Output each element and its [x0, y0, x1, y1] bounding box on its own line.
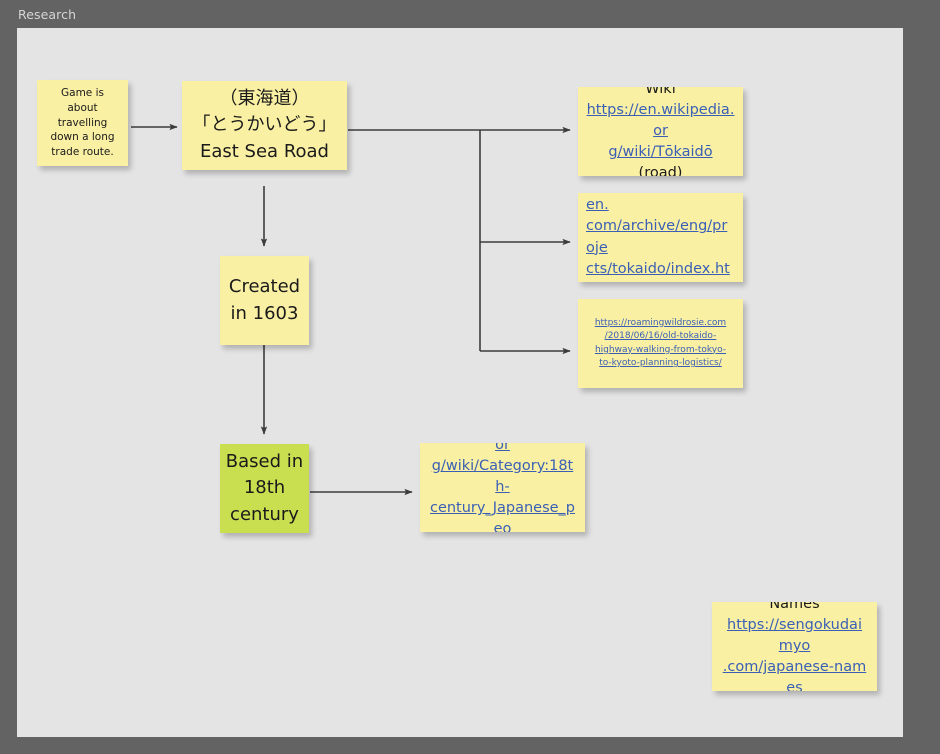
window-title: Research — [18, 7, 76, 22]
note-based-line-3: century — [220, 502, 309, 528]
note-wiki-link-tail[interactable]: g/wiki/Tōkaidō — [608, 144, 712, 160]
note-wiki-heading: Wiki — [586, 87, 735, 100]
note-category-line-2[interactable]: g/wiki/Category:18th- — [428, 456, 577, 498]
note-wiki-link-line-1[interactable]: https://en.wikipedia.or — [586, 100, 735, 142]
note-premise-line-2: travelling — [45, 116, 120, 131]
note-names-link[interactable]: Names https://sengokudaimyo .com/japanes… — [712, 602, 877, 691]
note-wikipedia-category-link[interactable]: https://en.wikipedia.or g/wiki/Category:… — [420, 443, 585, 532]
note-tokaido-line-english: East Sea Road — [182, 139, 347, 165]
note-premise-line-3: down a long — [45, 130, 120, 145]
note-names-heading: Names — [720, 602, 869, 615]
note-names-line-2[interactable]: .com/japanese-names — [720, 657, 869, 691]
note-premise-line-4: trade route. — [45, 145, 120, 160]
note-created-line-2: in 1603 — [220, 301, 309, 327]
note-rosie-line-2[interactable]: /2018/06/16/old-tokaido- — [586, 330, 735, 344]
note-rosie-line-1[interactable]: https://roamingwildrosie.com — [586, 317, 735, 331]
note-created-line-1: Created — [220, 274, 309, 300]
note-guusrijven-link[interactable]: http://www.guusrijven. com/archive/eng/p… — [578, 193, 743, 282]
note-based-line-1: Based in — [220, 449, 309, 475]
note-rosie-line-4[interactable]: to-kyoto-planning-logistics/ — [586, 357, 735, 371]
note-based-18th-century[interactable]: Based in 18th century — [220, 444, 309, 533]
note-wiki-link-line-2: g/wiki/Tōkaidō (road) — [586, 142, 735, 176]
note-category-line-3[interactable]: century_Japanese_peo — [428, 498, 577, 532]
note-names-line-1[interactable]: https://sengokudaimyo — [720, 615, 869, 657]
note-based-line-2: 18th — [220, 475, 309, 501]
note-guusrijven-line-2[interactable]: com/archive/eng/proje — [586, 216, 735, 258]
note-tokaido-line-japanese-kanji: （東海道） — [182, 86, 347, 112]
mindmap-canvas[interactable]: Game is about travelling down a long tra… — [17, 28, 903, 737]
note-guusrijven-line-3[interactable]: cts/tokaido/index.html — [586, 259, 735, 282]
note-tokaido[interactable]: （東海道） 「とうかいどう」 East Sea Road — [182, 81, 347, 170]
note-wiki-suffix: (road) — [639, 165, 683, 176]
note-premise[interactable]: Game is about travelling down a long tra… — [37, 80, 128, 166]
note-premise-line-1: Game is about — [45, 86, 120, 116]
application-window: Research — [0, 0, 940, 754]
note-rosie-line-3[interactable]: highway-walking-from-tokyo- — [586, 344, 735, 358]
window-titlebar: Research — [0, 0, 940, 28]
note-category-line-1[interactable]: https://en.wikipedia.or — [428, 443, 577, 456]
note-wiki-link[interactable]: Wiki https://en.wikipedia.or g/wiki/Tōka… — [578, 87, 743, 176]
note-guusrijven-line-1[interactable]: http://www.guusrijven. — [586, 193, 735, 216]
note-roamingwildrosie-link[interactable]: https://roamingwildrosie.com /2018/06/16… — [578, 299, 743, 388]
note-tokaido-line-japanese-kana: 「とうかいどう」 — [182, 112, 347, 138]
edge-tokaido-to-links — [348, 130, 570, 351]
note-created-1603[interactable]: Created in 1603 — [220, 256, 309, 345]
